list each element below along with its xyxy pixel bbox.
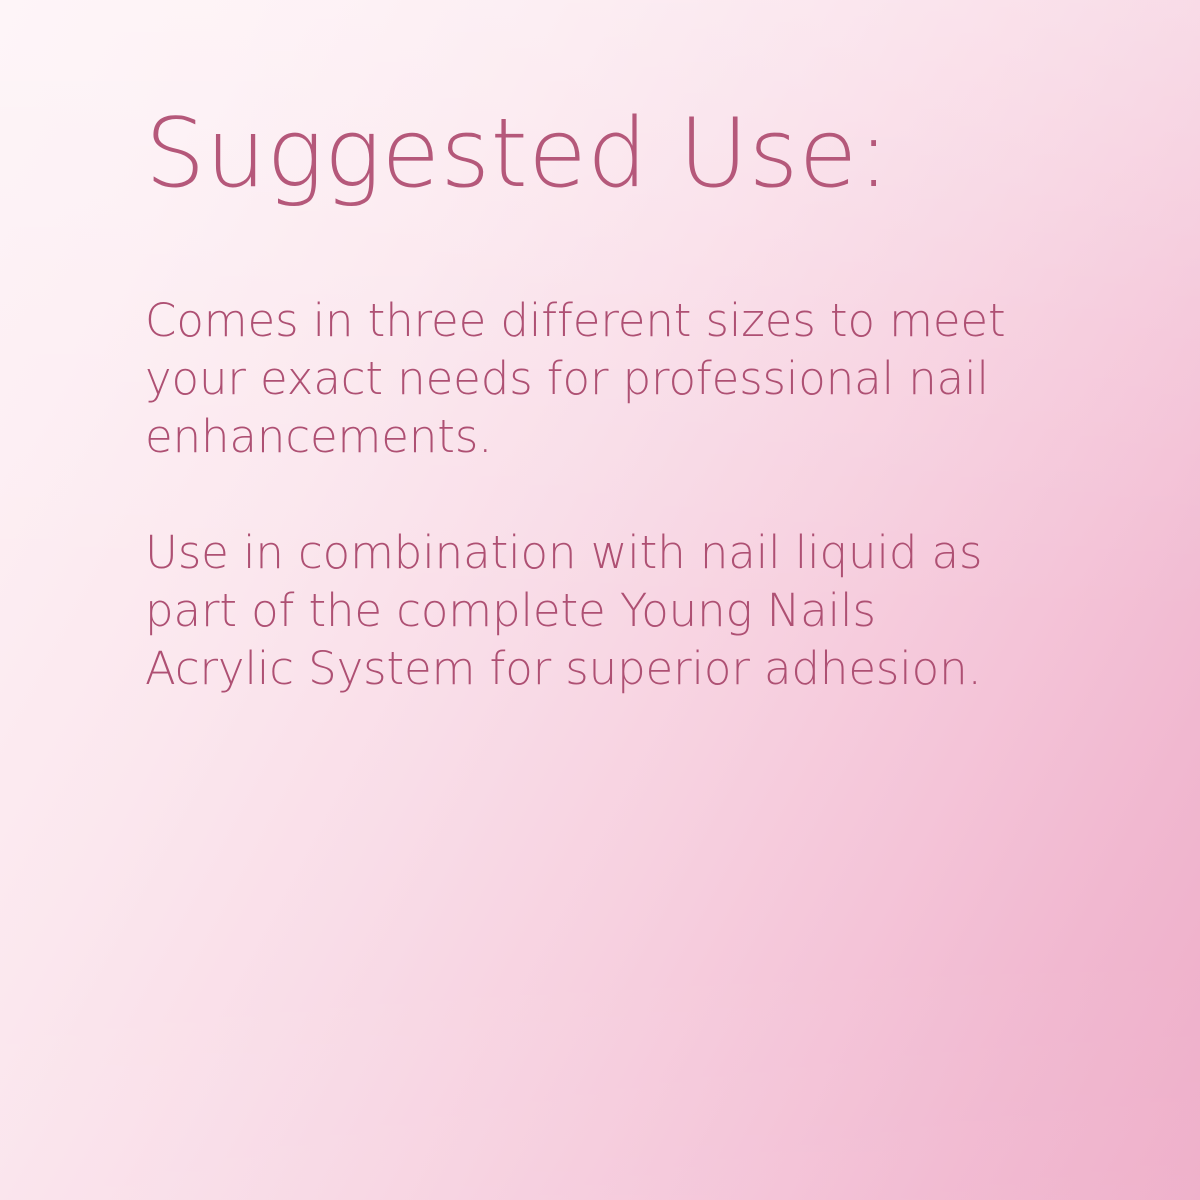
paragraph-sizes: Comes in three different sizes to meet y… bbox=[145, 292, 1020, 466]
suggested-use-card: Suggested Use: Comes in three different … bbox=[0, 0, 1200, 1200]
paragraph-usage: Use in combination with nail liquid as p… bbox=[145, 524, 1020, 698]
body-text-block: Comes in three different sizes to meet y… bbox=[145, 292, 1025, 698]
page-title: Suggested Use: bbox=[145, 107, 890, 202]
